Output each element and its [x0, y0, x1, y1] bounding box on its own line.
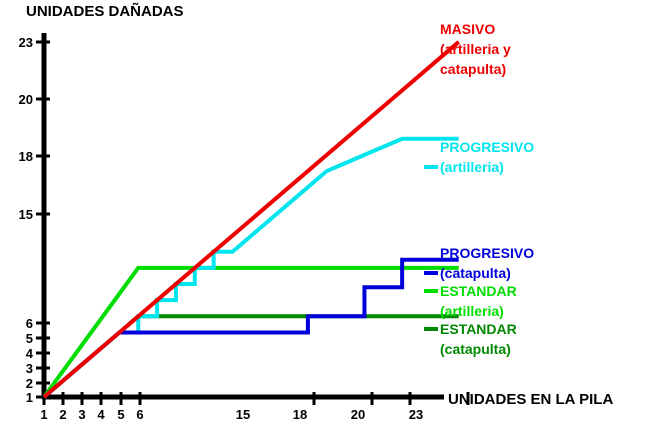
x-tick-label: 4: [97, 407, 105, 422]
legend-sublabel-progresivo-artilleria: (artilleria): [440, 159, 504, 175]
y-tick-label: 1: [26, 390, 33, 405]
x-tick-label: 3: [78, 407, 85, 422]
y-axis-title: UNIDADES DAÑADAS: [26, 2, 184, 20]
y-tick-label: 20: [19, 92, 33, 107]
legend-label-masivo: MASIVO: [440, 21, 495, 37]
legend-label-progresivo-catapulta: PROGRESIVO: [440, 245, 534, 261]
legend-label-estandar-catapulta: ESTANDAR: [440, 321, 517, 337]
legend-sublabel-masivo: (artilleria y: [440, 41, 511, 57]
x-tick-label: 15: [236, 407, 250, 422]
damage-chart: UNIDADES DAÑADAS UNIDADES EN LA PILA 23 …: [0, 0, 662, 441]
legend-label-progresivo-artilleria: PROGRESIVO: [440, 139, 534, 155]
legend-label-estandar-artilleria: ESTANDAR: [440, 283, 517, 299]
x-tick-label: 5: [117, 407, 124, 422]
x-tick-label: 23: [409, 407, 423, 422]
legend-sublabel-estandar-artilleria: (artilleria): [440, 303, 504, 319]
y-tick-label: 18: [19, 149, 33, 164]
y-tick-label: 5: [26, 331, 33, 346]
legend-sublabel2-masivo: catapulta): [440, 61, 506, 77]
x-axis-title: UNIDADES EN LA PILA: [448, 391, 613, 408]
y-tick-label: 3: [26, 361, 33, 376]
y-tick-label: 2: [26, 376, 33, 391]
x-tick-label: 20: [351, 407, 365, 422]
chart-svg: UNIDADES DAÑADAS UNIDADES EN LA PILA 23 …: [0, 0, 662, 441]
x-tick-label: 1: [40, 407, 47, 422]
chart-background: [0, 0, 662, 441]
legend-sublabel-estandar-catapulta: (catapulta): [440, 341, 511, 357]
y-tick-label: 6: [26, 316, 33, 331]
x-tick-label: 6: [136, 407, 143, 422]
x-tick-label: 18: [293, 407, 307, 422]
y-tick-label: 23: [19, 35, 33, 50]
legend-sublabel-progresivo-catapulta: (catapulta): [440, 265, 511, 281]
x-tick-label: 2: [59, 407, 66, 422]
y-tick-label: 15: [19, 207, 33, 222]
y-tick-label: 4: [26, 346, 34, 361]
